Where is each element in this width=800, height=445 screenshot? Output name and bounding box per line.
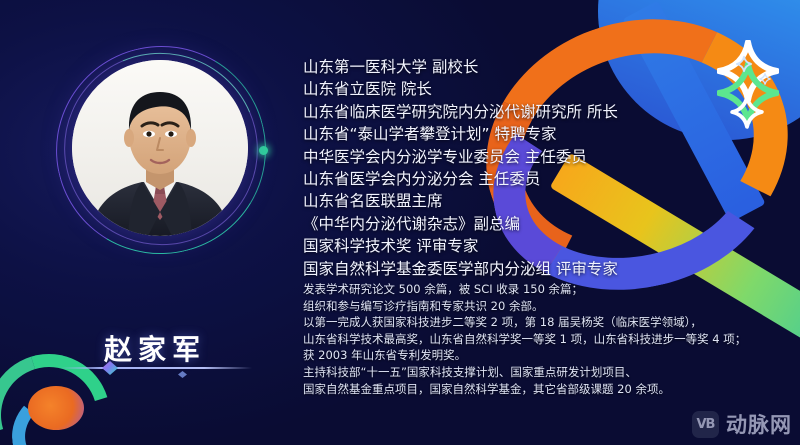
speaker-profile-slide: 赵家军 山东第一医科大学 副校长 山东省立医院 院长 山东省临床医学研究院内分泌… xyxy=(0,0,800,445)
title-line: 国家自然科学基金委医学部内分泌组 评审专家 xyxy=(303,258,773,280)
orbit-dot xyxy=(259,146,268,155)
ribbon-orange-blob xyxy=(28,386,84,430)
title-line: 山东省名医联盟主席 xyxy=(303,190,773,212)
brand-logo: VB 动脉网 xyxy=(692,409,792,439)
title-line: 山东省医学会内分泌分会 主任委员 xyxy=(303,168,773,190)
portrait-photo xyxy=(72,60,248,236)
achievement-line: 获 2003 年山东省专利发明奖。 xyxy=(303,347,783,364)
ribbon-blue-arc xyxy=(7,380,129,445)
titles-list: 山东第一医科大学 副校长 山东省立医院 院长 山东省临床医学研究院内分泌代谢研究… xyxy=(303,56,773,280)
divider-line xyxy=(60,367,252,369)
logo-mark-icon: VB xyxy=(692,411,719,438)
achievement-line: 山东省科学技术最高奖，山东省自然科学奖一等奖 1 项，山东省科技进步一等奖 4 … xyxy=(303,331,783,348)
title-line: 国家科学技术奖 评审专家 xyxy=(303,235,773,257)
logo-text: 动脉网 xyxy=(726,409,792,439)
title-line: 山东省立医院 院长 xyxy=(303,78,773,100)
divider-gem-icon xyxy=(102,361,118,375)
title-line: 《中华内分泌代谢杂志》副总编 xyxy=(303,213,773,235)
achievements-list: 发表学术研究论文 500 余篇，被 SCI 收录 150 余篇； 组织和参与编写… xyxy=(303,281,783,397)
speaker-portrait xyxy=(72,60,248,236)
title-line: 中华医学会内分泌学专业委员会 主任委员 xyxy=(303,146,773,168)
achievement-line: 以第一完成人获国家科技进步二等奖 2 项，第 18 届吴杨奖（临床医学领域）， xyxy=(303,314,783,331)
title-line: 山东第一医科大学 副校长 xyxy=(303,56,773,78)
divider-gem-small-icon xyxy=(178,371,187,378)
achievement-line: 国家自然基金重点项目，国家自然科学基金，其它省部级课题 20 余项。 xyxy=(303,381,783,398)
achievement-line: 主持科技部“十一五”国家科技支撑计划、国家重点研发计划项目、 xyxy=(303,364,783,381)
title-line: 山东省临床医学研究院内分泌代谢研究所 所长 xyxy=(303,101,773,123)
achievement-line: 发表学术研究论文 500 余篇，被 SCI 收录 150 余篇； xyxy=(303,281,783,298)
title-line: 山东省“泰山学者攀登计划” 特聘专家 xyxy=(303,123,773,145)
achievement-line: 组织和参与编写诊疗指南和专家共识 20 余部。 xyxy=(303,298,783,315)
name-divider xyxy=(60,362,252,374)
